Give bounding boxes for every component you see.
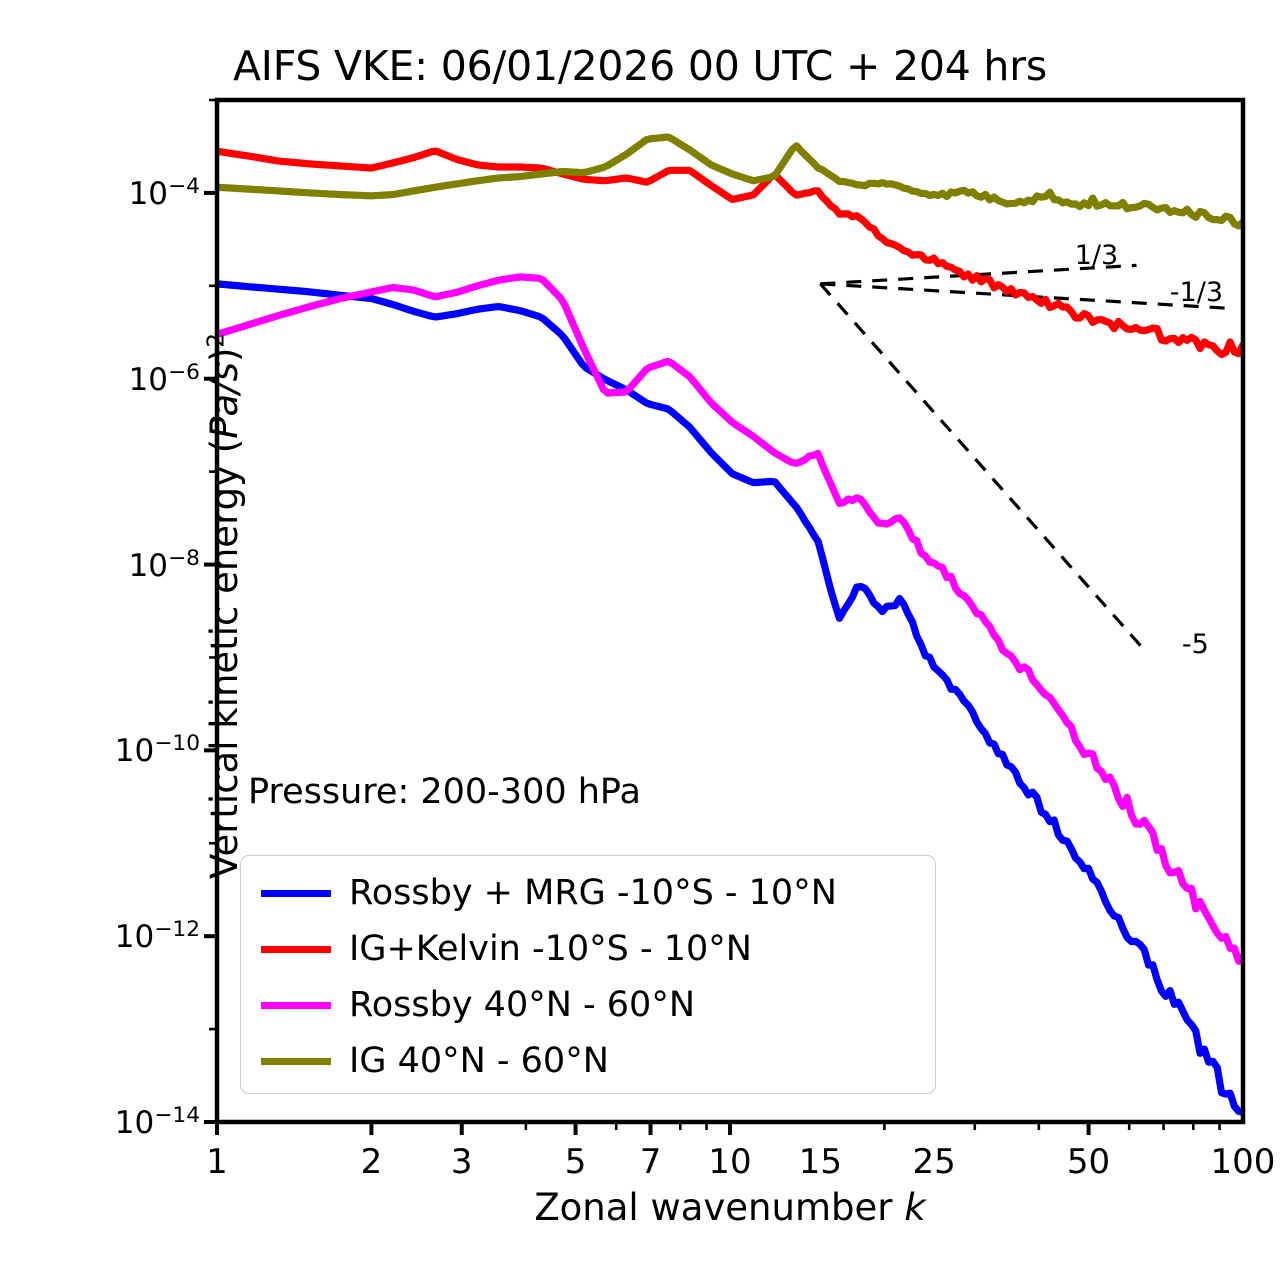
y-axis-label-exponent: 2	[204, 333, 230, 348]
y-axis-label-close: )	[203, 348, 246, 362]
x-tick-label: 5	[565, 1142, 587, 1182]
y-tick-label: 10−8	[60, 545, 200, 583]
y-tick-label: 10−6	[60, 360, 200, 398]
y-axis-label-unit: Pa/s	[203, 362, 246, 439]
y-tick-label: 10−4	[60, 174, 200, 212]
x-tick-label: 50	[1067, 1142, 1110, 1182]
legend-color-swatch	[261, 1058, 331, 1065]
y-tick-label: 10−14	[60, 1103, 200, 1141]
legend-color-swatch	[261, 946, 331, 953]
x-axis-label: Zonal wavenumber k	[217, 1186, 1243, 1229]
y-axis-label-main: Vertical kinetic energy (	[203, 439, 246, 879]
legend-item-2[interactable]: Rossby 40°N - 60°N	[255, 976, 695, 1034]
legend-item-label: Rossby + MRG -10°S - 10°N	[349, 873, 837, 913]
legend-color-swatch	[261, 890, 331, 897]
y-tick-label: 10−12	[60, 917, 200, 955]
x-tick-label: 2	[361, 1142, 383, 1182]
legend-item-1[interactable]: IG+Kelvin -10°S - 10°N	[255, 920, 752, 978]
y-tick-label: 10−10	[60, 731, 200, 769]
legend-item-label: IG 40°N - 60°N	[349, 1041, 609, 1081]
x-axis-label-symbol: k	[904, 1186, 925, 1229]
legend-item-label: IG+Kelvin -10°S - 10°N	[349, 929, 752, 969]
x-tick-label: 7	[640, 1142, 662, 1182]
x-tick-label: 15	[799, 1142, 842, 1182]
legend-item-label: Rossby 40°N - 60°N	[349, 985, 695, 1025]
series-line-3	[217, 137, 1243, 226]
figure-root: AIFS VKE: 06/01/2026 00 UTC + 204 hrs Ve…	[0, 0, 1280, 1288]
legend: Rossby + MRG -10°S - 10°NIG+Kelvin -10°S…	[240, 855, 936, 1094]
x-tick-label: 1	[206, 1142, 228, 1182]
x-tick-label: 3	[451, 1142, 473, 1182]
pressure-annotation: Pressure: 200-300 hPa	[248, 772, 641, 812]
x-tick-label: 10	[708, 1142, 751, 1182]
x-axis-label-main: Zonal wavenumber	[534, 1186, 904, 1229]
legend-item-0[interactable]: Rossby + MRG -10°S - 10°N	[255, 864, 837, 922]
x-tick-label: 100	[1211, 1142, 1276, 1182]
slope-label-minus-one-third: -1/3	[1170, 277, 1223, 308]
x-tick-label: 25	[913, 1142, 956, 1182]
slope-label-minus-five: -5	[1182, 629, 1209, 660]
slope-label-plus-one-third: 1/3	[1075, 240, 1118, 271]
legend-item-3[interactable]: IG 40°N - 60°N	[255, 1032, 609, 1090]
legend-color-swatch	[261, 1002, 331, 1009]
